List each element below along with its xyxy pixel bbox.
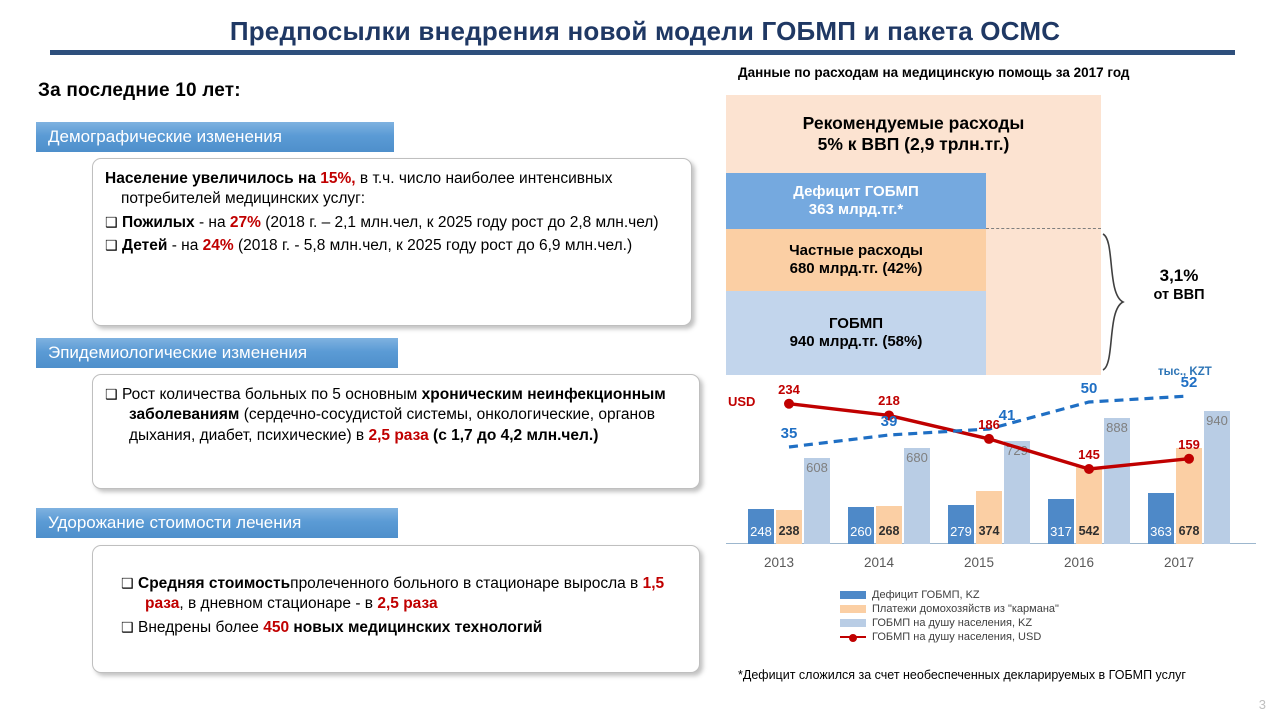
card-text-run: - на <box>195 214 230 231</box>
page-title: Предпосылки внедрения новой модели ГОБМП… <box>50 14 1240 50</box>
usd-axis-tag: USD <box>728 394 755 409</box>
chart-bar-label: 678 <box>1173 524 1205 538</box>
block-recommended-line2: 5% к ВВП (2,9 трлн.тг.) <box>726 134 1101 155</box>
section-chip-label: Удорожание стоимости лечения <box>48 513 301 532</box>
checkbox-bullet-icon: ❑ <box>105 387 122 403</box>
gdp-brace <box>1101 232 1127 372</box>
block-gobmp-line1: ГОБМП <box>726 315 986 333</box>
chart-x-tick: 2015 <box>944 555 1014 570</box>
chart-x-tick: 2013 <box>744 555 814 570</box>
legend-item: Платежи домохозяйств из "кармана" <box>840 602 1140 615</box>
card-text-run: пролеченного больного в стационаре вырос… <box>290 575 642 592</box>
chart-bar-label: 542 <box>1073 524 1105 538</box>
card-text-run: 450 <box>263 619 289 636</box>
usd-point-label: 218 <box>869 393 909 408</box>
block-private-line2: 680 млрд.тг. (42%) <box>726 260 986 278</box>
usd-point <box>984 434 994 444</box>
card-line: ❑ Пожилых - на 27% (2018 г. – 2,1 млн.че… <box>105 213 679 233</box>
gdp-share-label: от ВВП <box>1134 286 1224 304</box>
card-text-run: - на <box>167 237 202 254</box>
chart-bar-label: 374 <box>973 524 1005 538</box>
block-private-line1: Частные расходы <box>726 242 986 260</box>
card-text-run: 2,5 раза <box>368 427 428 444</box>
chart-bar-label: 238 <box>773 524 805 538</box>
checkbox-bullet-icon: ❑ <box>121 620 138 636</box>
chart-legend: Дефицит ГОБМП, KZПлатежи домохозяйств из… <box>840 588 1140 644</box>
card-line: ❑ Внедрены более 450 новых медицинских т… <box>121 618 687 638</box>
legend-item: Дефицит ГОБМП, KZ <box>840 588 1140 601</box>
data-note: Данные по расходам на медицинскую помощь… <box>738 65 1129 80</box>
block-recommended-line1: Рекомендуемые расходы <box>726 113 1101 134</box>
card-text-run: Население увеличилось на <box>105 170 320 187</box>
legend-swatch <box>840 633 866 641</box>
expenditure-block-diagram: Рекомендуемые расходы 5% к ВВП (2,9 трлн… <box>726 95 1101 375</box>
chart-x-tick: 2014 <box>844 555 914 570</box>
checkbox-bullet-icon: ❑ <box>105 215 122 231</box>
gdp-share-value: 3,1% <box>1134 265 1224 286</box>
legend-label: Дефицит ГОБМП, KZ <box>872 589 980 601</box>
chart-bar-label: 608 <box>801 460 833 475</box>
card-text-run: Пожилых <box>122 214 195 231</box>
chart-bar-label: 680 <box>901 450 933 465</box>
chart-x-tick: 2017 <box>1144 555 1214 570</box>
block-private: Частные расходы 680 млрд.тг. (42%) <box>726 229 986 291</box>
card-text-run: 2,5 раза <box>377 595 437 612</box>
section-chip-epidemiologic: Эпидемиологические изменения <box>36 338 398 368</box>
slide-root: Предпосылки внедрения новой модели ГОБМП… <box>0 0 1280 720</box>
card-line: ❑ Средняя стоимостьпролеченного больного… <box>121 574 687 615</box>
card-text-run: Рост количества больных по 5 основным <box>122 386 422 403</box>
legend-item: ГОБМП на душу населения, USD <box>840 630 1140 643</box>
title-divider <box>50 50 1235 55</box>
card-line: Население увеличилось на 15%, в т.ч. чис… <box>105 169 679 210</box>
block-deficit-line2: 363 млрд.тг.* <box>726 201 986 219</box>
section-card-demographic: Население увеличилось на 15%, в т.ч. чис… <box>92 158 692 326</box>
legend-swatch <box>840 591 866 599</box>
chart-bar-label: 268 <box>873 524 905 538</box>
legend-label: Платежи домохозяйств из "кармана" <box>872 603 1059 615</box>
section-chip-cost: Удорожание стоимости лечения <box>36 508 398 538</box>
section-card-epidemiologic: ❑ Рост количества больных по 5 основным … <box>92 374 700 489</box>
usd-point <box>784 399 794 409</box>
card-text-run: 27% <box>230 214 261 231</box>
block-gobmp-line2: 940 млрд.тг. (58%) <box>726 333 986 351</box>
page-number: 3 <box>1259 697 1266 712</box>
usd-point-label: 145 <box>1069 447 1109 462</box>
card-text-run: (2018 г. – 2,1 млн.чел, к 2025 году рост… <box>261 214 659 231</box>
block-deficit-line1: Дефицит ГОБМП <box>726 183 986 201</box>
legend-swatch <box>840 619 866 627</box>
chart-bar <box>1204 411 1230 544</box>
usd-point-label: 159 <box>1169 437 1209 452</box>
chart-bar <box>1104 418 1130 544</box>
card-line: ❑ Детей - на 24% (2018 г. - 5,8 млн.чел,… <box>105 236 679 256</box>
legend-item: ГОБМП на душу населения, KZ <box>840 616 1140 629</box>
block-recommended: Рекомендуемые расходы 5% к ВВП (2,9 трлн… <box>726 95 1101 173</box>
gdp-share: 3,1% от ВВП <box>1134 265 1224 304</box>
lead-text: За последние 10 лет: <box>38 80 241 102</box>
card-text-run: Внедрены более <box>138 619 263 636</box>
kzt-point-label: 52 <box>1169 374 1209 391</box>
section-card-cost: ❑ Средняя стоимостьпролеченного больного… <box>92 545 700 673</box>
chart-bar-label: 940 <box>1201 413 1233 428</box>
kzt-point-label: 35 <box>769 425 809 442</box>
expenditure-chart: USD тыс., KZT 24823860826026868027937472… <box>726 362 1256 582</box>
chart-x-tick: 2016 <box>1044 555 1114 570</box>
legend-label: ГОБМП на душу населения, KZ <box>872 617 1032 629</box>
deficit-guide-line <box>986 228 1101 229</box>
checkbox-bullet-icon: ❑ <box>105 238 122 254</box>
card-text-run: (2018 г. - 5,8 млн.чел, к 2025 году рост… <box>234 237 632 254</box>
block-deficit: Дефицит ГОБМП 363 млрд.тг.* <box>726 173 986 229</box>
chart-bar-label: 729 <box>1001 443 1033 458</box>
card-text-run: Детей <box>122 237 167 254</box>
kzt-point-label: 41 <box>987 407 1027 424</box>
card-line: ❑ Рост количества больных по 5 основным … <box>105 385 687 446</box>
card-text-run: Средняя стоимость <box>138 575 290 592</box>
footnote: *Дефицит сложился за счет необеспеченных… <box>738 668 1186 682</box>
section-chip-label: Эпидемиологические изменения <box>48 343 307 362</box>
usd-point-label: 234 <box>769 382 809 397</box>
checkbox-bullet-icon: ❑ <box>121 576 138 592</box>
card-text-run: 15%, <box>320 170 355 187</box>
section-chip-demographic: Демографические изменения <box>36 122 394 152</box>
card-text-run: 24% <box>203 237 234 254</box>
legend-label: ГОБМП на душу населения, USD <box>872 631 1041 643</box>
card-text-run: , в дневном стационаре - в <box>179 595 377 612</box>
kzt-point-label: 50 <box>1069 380 1109 397</box>
section-chip-label: Демографические изменения <box>48 127 282 146</box>
card-text-run: новых медицинских технологий <box>289 619 542 636</box>
legend-swatch <box>840 605 866 613</box>
card-text-run: (с 1,7 до 4,2 млн.чел.) <box>429 427 599 444</box>
kzt-point-label: 39 <box>869 413 909 430</box>
chart-bar-label: 888 <box>1101 420 1133 435</box>
